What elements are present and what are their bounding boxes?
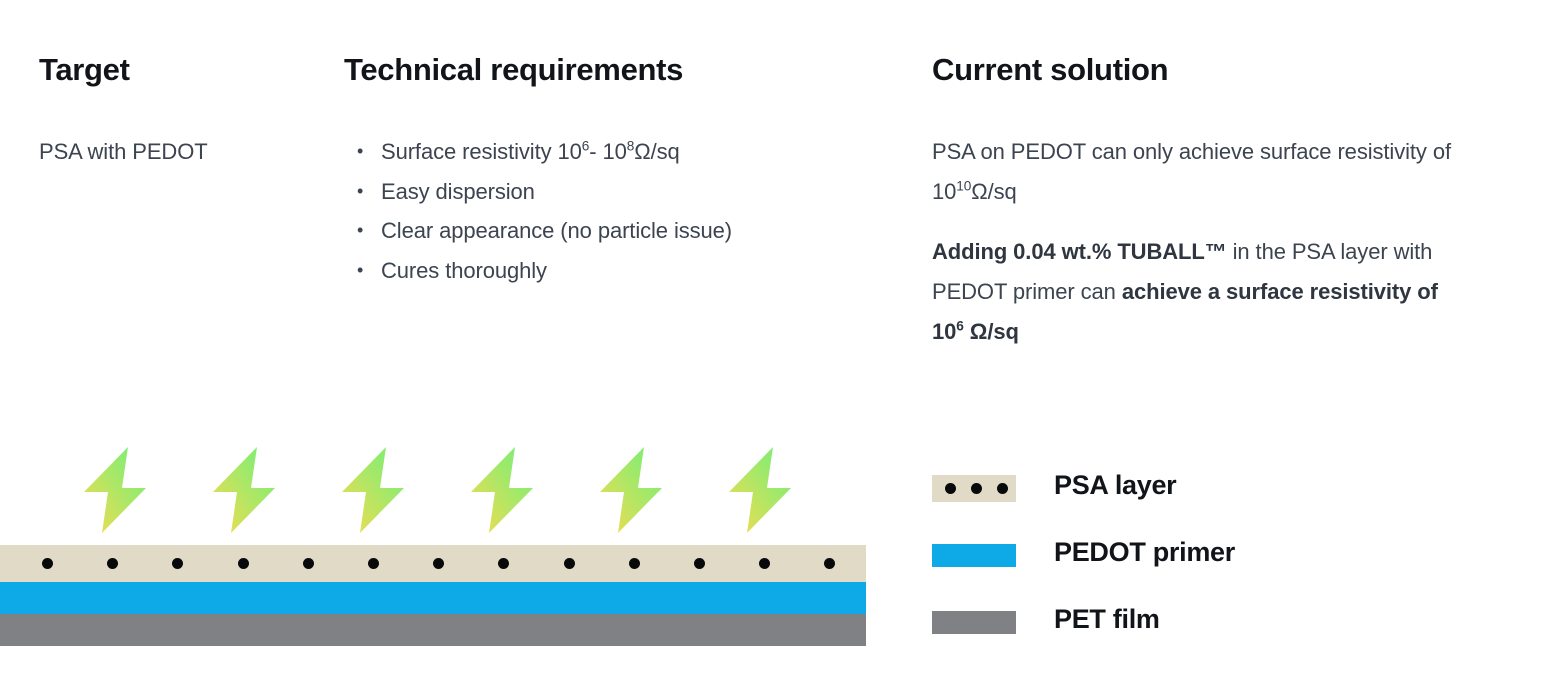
target-description: PSA with PEDOT: [39, 132, 319, 171]
solution-bold-lead: Adding 0.04 wt.% TUBALL™: [932, 239, 1227, 264]
psa-particle-dot: [824, 558, 835, 569]
page-title-target: Target: [39, 52, 130, 88]
legend-label: PET film: [1054, 604, 1160, 635]
legend-swatch-pedot-primer: [932, 544, 1016, 567]
stack-layer-pedot-primer: [0, 582, 866, 614]
legend-item-pedot-primer: PEDOT primer: [932, 537, 1332, 571]
psa-particle-dot: [238, 558, 249, 569]
legend-particle-dot: [971, 483, 982, 494]
list-item: Clear appearance (no particle issue): [357, 211, 877, 251]
solution-text-suffix: Ω/sq: [971, 179, 1016, 204]
lightning-bolt-icon: [84, 447, 146, 533]
legend-label: PEDOT primer: [1054, 537, 1235, 568]
exponent: 6: [956, 319, 963, 344]
lightning-bolt-icon: [729, 447, 791, 533]
legend-item-psa-layer: PSA layer: [932, 470, 1332, 504]
requirements-list: Surface resistivity 106- 108Ω/sq Easy di…: [357, 132, 877, 290]
psa-particle-dot: [629, 558, 640, 569]
psa-particle-dot: [368, 558, 379, 569]
psa-particle-dot: [759, 558, 770, 569]
list-item-text: Easy dispersion: [381, 179, 535, 204]
legend-particle-dot: [997, 483, 1008, 494]
exponent: 10: [956, 178, 971, 193]
stack-layer-pet-film: [0, 614, 866, 646]
lightning-bolt-icon: [471, 447, 533, 533]
list-item-text-mid: - 10: [589, 139, 627, 164]
lightning-bolt-icon: [213, 447, 275, 533]
page-title-solution: Current solution: [932, 52, 1168, 88]
psa-particle-dot: [172, 558, 183, 569]
list-item-text: Surface resistivity 10: [381, 139, 582, 164]
list-item: Easy dispersion: [357, 172, 877, 212]
list-item: Surface resistivity 106- 108Ω/sq: [357, 132, 877, 172]
charge-bolts-group: [0, 447, 866, 537]
psa-particle-dot: [42, 558, 53, 569]
psa-particle-dot: [107, 558, 118, 569]
film-stack-diagram: [0, 545, 866, 646]
solution-bold-unit: Ω/sq: [964, 319, 1019, 344]
legend-label: PSA layer: [1054, 470, 1176, 501]
page-title-requirements: Technical requirements: [344, 52, 683, 88]
lightning-bolt-icon: [342, 447, 404, 533]
legend-swatch-psa-layer: [932, 475, 1016, 502]
psa-particle-dot: [433, 558, 444, 569]
list-item-text: Clear appearance (no particle issue): [381, 218, 732, 243]
legend-item-pet-film: PET film: [932, 604, 1332, 638]
stack-layer-psa-layer: [0, 545, 866, 582]
psa-particle-dot: [498, 558, 509, 569]
legend-swatch-pet-film: [932, 611, 1016, 634]
lightning-bolt-icon: [600, 447, 662, 533]
solution-paragraph-current: PSA on PEDOT can only achieve surface re…: [932, 132, 1452, 211]
psa-particle-dot: [694, 558, 705, 569]
slide-canvas: Target PSA with PEDOT Technical requirem…: [0, 0, 1552, 696]
solution-paragraph-improved: Adding 0.04 wt.% TUBALL™ in the PSA laye…: [932, 232, 1462, 352]
psa-particle-dot: [564, 558, 575, 569]
list-item-text-suffix: Ω/sq: [634, 139, 679, 164]
legend-particle-dot: [945, 483, 956, 494]
psa-particle-dot: [303, 558, 314, 569]
list-item: Cures thoroughly: [357, 251, 877, 291]
list-item-text: Cures thoroughly: [381, 258, 547, 283]
